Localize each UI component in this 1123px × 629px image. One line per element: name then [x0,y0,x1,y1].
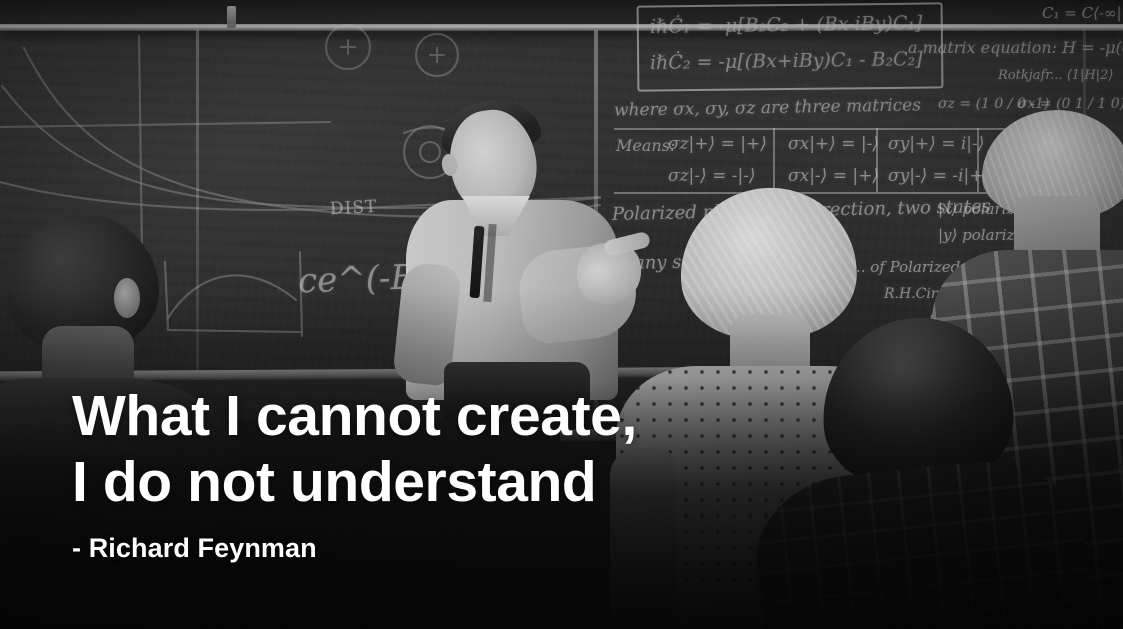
quote-attribution: - Richard Feynman [72,533,772,564]
quote-card: DIST ce^(-Ei/kT) iℏĊ₁ = -μ[B₂C₂ + (Bx-iB… [0,0,1123,629]
quote-line-1: What I cannot create, [72,383,772,449]
quote-block: What I cannot create, I do not understan… [72,383,772,564]
quote-line-2: I do not understand [72,449,772,515]
